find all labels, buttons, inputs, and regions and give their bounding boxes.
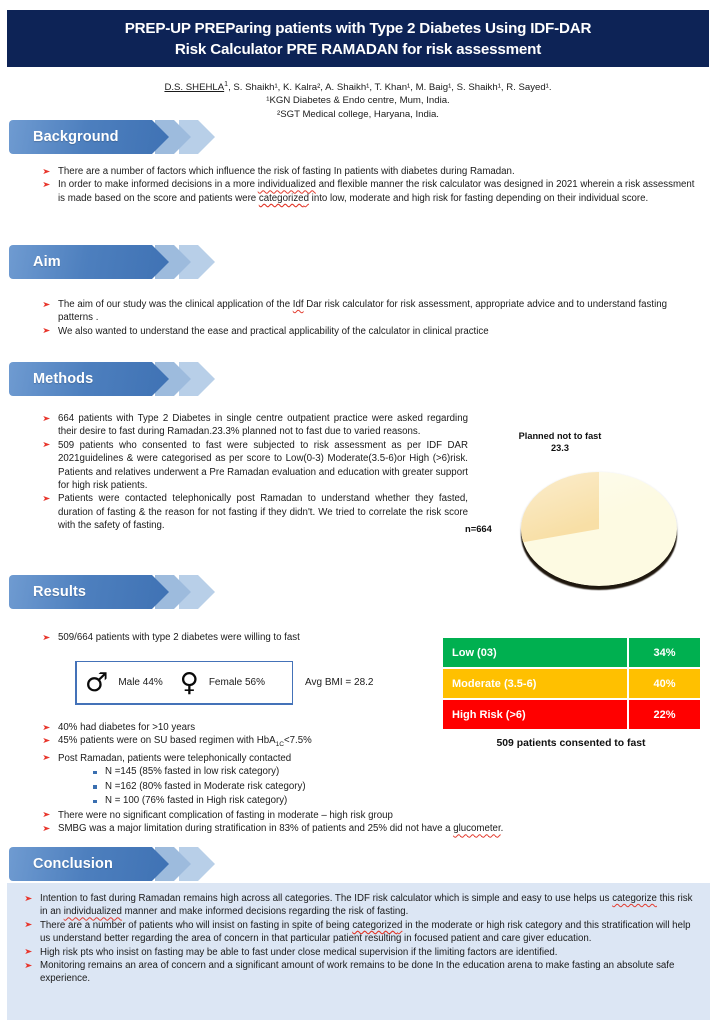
aim-body: The aim of our study was the clinical ap… <box>43 298 698 338</box>
gender-distribution-box: ♂ Male 44% ♀ Female 56% <box>75 661 293 705</box>
lead-author: D.S. SHEHLA <box>164 82 224 93</box>
results-body: 40% had diabetes for >10 years 45% patie… <box>43 721 643 836</box>
conclusion-bullet-3: High risk pts who insist on fasting may … <box>25 946 695 959</box>
pie-chart-n-label: n=664 <box>465 523 492 534</box>
risk-category-table: Low (03) 34% Moderate (3.5-6) 40% High R… <box>441 636 702 731</box>
table-row: Low (03) 34% <box>442 637 701 668</box>
aim-bullet-1: The aim of our study was the clinical ap… <box>43 298 698 325</box>
background-bullet-1: There are a number of factors which infl… <box>43 165 698 178</box>
conclusion-bullet-1: Intention to fast during Ramadan remains… <box>25 892 695 919</box>
results-bullet-3: Post Ramadan, patients were telephonical… <box>43 752 643 765</box>
risk-row-moderate-value: 40% <box>628 668 701 699</box>
results-sub-bullet-list: N =145 (85% fasted in low risk category)… <box>91 765 643 809</box>
results-bullet-2: 45% patients were on SU based regimen wi… <box>43 734 643 751</box>
results-sub-bullet-2: N =162 (80% fasted in Moderate risk cate… <box>91 780 643 795</box>
pie-chart-title-text: Planned not to fast <box>519 431 602 441</box>
results-bullet-4: There were no significant complication o… <box>43 809 643 822</box>
results-bullet-1: 40% had diabetes for >10 years <box>43 721 643 734</box>
poster-title-line1: PREP-UP PREParing patients with Type 2 D… <box>125 20 592 37</box>
pie-chart: Planned not to fast 23.3 n=664 <box>473 430 710 605</box>
background-body: There are a number of factors which infl… <box>43 165 698 205</box>
methods-bullet-1: 664 patients with Type 2 Diabetes in sin… <box>43 412 468 439</box>
male-symbol-icon: ♂ <box>85 670 108 696</box>
section-label-aim: Aim <box>33 245 61 279</box>
conclusion-bullet-2: There are a number of patients who will … <box>25 919 695 946</box>
pie-chart-title: Planned not to fast 23.3 <box>495 430 625 455</box>
conclusion-bullet-4: Monitoring remains an area of concern an… <box>25 959 695 986</box>
methods-bullet-2: 509 patients who consented to fast were … <box>43 439 468 493</box>
author-block: D.S. SHEHLA1, S. Shaikh¹, K. Kalra², A. … <box>3 78 710 121</box>
section-banner-results: Results <box>3 575 233 609</box>
methods-body: 664 patients with Type 2 Diabetes in sin… <box>43 412 468 533</box>
poster-title: PREP-UP PREParing patients with Type 2 D… <box>125 18 592 60</box>
female-percentage-label: Female 56% <box>209 677 265 688</box>
section-label-methods: Methods <box>33 362 93 396</box>
conclusion-body: Intention to fast during Ramadan remains… <box>25 892 695 986</box>
pie-chart-value-label: 23.3 <box>551 443 569 453</box>
risk-row-low-label: Low (03) <box>442 637 628 668</box>
poster-title-line2: Risk Calculator PRE RAMADAN for risk ass… <box>175 41 541 58</box>
risk-row-moderate-label: Moderate (3.5-6) <box>442 668 628 699</box>
section-label-conclusion: Conclusion <box>33 847 113 881</box>
methods-bullet-3: Patients were contacted telephonically p… <box>43 492 468 532</box>
affiliation-1: ¹KGN Diabetes & Endo centre, Mum, India. <box>3 94 710 107</box>
section-banner-background: Background <box>3 120 233 154</box>
female-symbol-icon: ♀ <box>180 670 199 696</box>
risk-row-low-value: 34% <box>628 637 701 668</box>
male-percentage-label: Male 44% <box>118 677 162 688</box>
pie-chart-disc <box>521 472 677 586</box>
section-banner-conclusion: Conclusion <box>3 847 233 881</box>
coauthor-list: , S. Shaikh¹, K. Kalra², A. Shaikh¹, T. … <box>228 82 551 93</box>
results-lead: 509/664 patients with type 2 diabetes we… <box>43 631 443 644</box>
results-bullet-lead: 509/664 patients with type 2 diabetes we… <box>43 631 443 644</box>
aim-bullet-2: We also wanted to understand the ease an… <box>43 325 698 338</box>
section-banner-aim: Aim <box>3 245 233 279</box>
background-bullet-2: In order to make informed decisions in a… <box>43 178 698 205</box>
author-list: D.S. SHEHLA1, S. Shaikh¹, K. Kalra², A. … <box>3 78 710 94</box>
section-label-background: Background <box>33 120 119 154</box>
section-label-results: Results <box>33 575 86 609</box>
results-sub-bullet-1: N =145 (85% fasted in low risk category) <box>91 765 643 780</box>
results-bullet-5: SMBG was a major limitation during strat… <box>43 822 643 835</box>
poster-root: PREP-UP PREParing patients with Type 2 D… <box>0 0 710 1024</box>
avg-bmi-label: Avg BMI = 28.2 <box>305 677 373 688</box>
section-banner-methods: Methods <box>3 362 233 396</box>
poster-title-bar: PREP-UP PREParing patients with Type 2 D… <box>7 10 709 67</box>
results-sub-bullet-3: N = 100 (76% fasted in High risk categor… <box>91 794 643 809</box>
table-row: Moderate (3.5-6) 40% <box>442 668 701 699</box>
